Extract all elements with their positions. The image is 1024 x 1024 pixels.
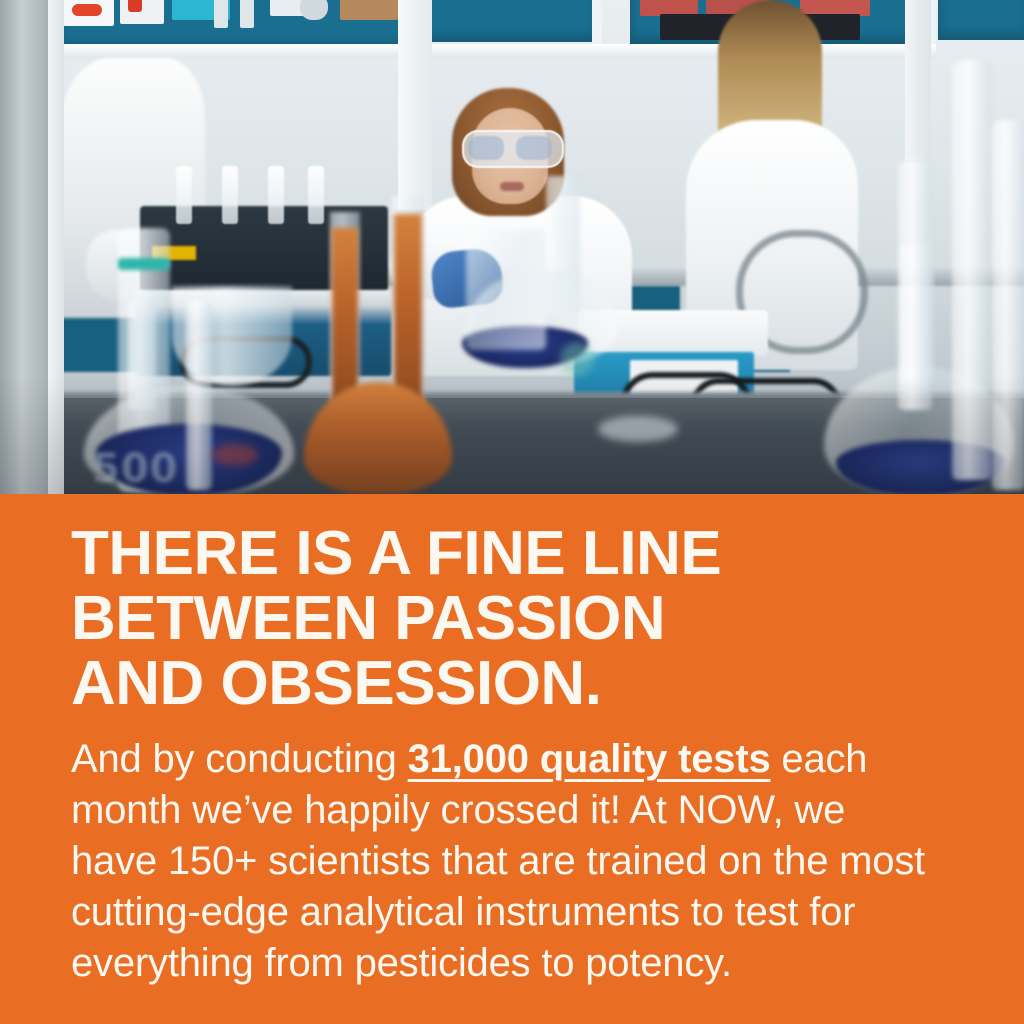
flask-held-in-glove: [466, 230, 546, 350]
wall-cabinet-far-right: [938, 0, 1024, 40]
test-tube-3: [268, 166, 284, 224]
shelf-box-2: [120, 0, 164, 24]
amber-liquid-1: [332, 228, 358, 404]
promotional-ad-card: 500 THERE IS A FINE LINE BETWEEN PASSION…: [0, 0, 1024, 1024]
shelf-label-red-2: [128, 0, 142, 12]
shelf-cardboard-box: [340, 0, 398, 20]
bokeh-highlight-1: [560, 342, 594, 376]
bokeh-highlight-2: [212, 444, 258, 466]
petri-dish-bokeh: [598, 416, 678, 442]
goggle-lens-left: [468, 136, 504, 160]
shelf-jar: [300, 0, 328, 20]
page-title: THERE IS A FINE LINE BETWEEN PASSION AND…: [71, 521, 951, 716]
test-tube-4: [308, 166, 324, 224]
flask-volume-label: 500: [92, 446, 179, 492]
cabinet-divider-2: [592, 0, 602, 50]
door-frame-inner: [48, 0, 64, 494]
shelf-bottle-1: [214, 0, 228, 28]
graduated-cylinder-1: [186, 300, 212, 490]
wall-cabinet-middle: [418, 0, 598, 42]
structural-pillar-center: [398, 0, 432, 210]
goggle-lens-right: [516, 136, 552, 160]
amber-liquid-2: [394, 214, 422, 408]
graduated-cylinder-right-2: [898, 160, 932, 410]
test-tube-2: [222, 166, 238, 224]
test-tube-1: [176, 166, 192, 224]
shelf-label-red-1: [72, 4, 102, 16]
lab-photo: 500: [0, 0, 1024, 494]
graduated-cylinder-right-3: [992, 120, 1024, 490]
body-copy-lead: And by conducting: [71, 737, 408, 781]
graduated-cylinder-right-1: [952, 60, 992, 480]
quality-tests-highlight: 31,000 quality tests: [408, 737, 771, 781]
body-copy: And by conducting 31,000 quality tests e…: [71, 734, 941, 989]
pipette-left-2-cap: [118, 258, 170, 270]
shelf-bottle-2: [240, 0, 254, 28]
structural-pillar-right: [905, 0, 931, 160]
scientist-center-mouth: [500, 182, 524, 191]
orange-copy-panel: THERE IS A FINE LINE BETWEEN PASSION AND…: [0, 494, 1024, 1024]
